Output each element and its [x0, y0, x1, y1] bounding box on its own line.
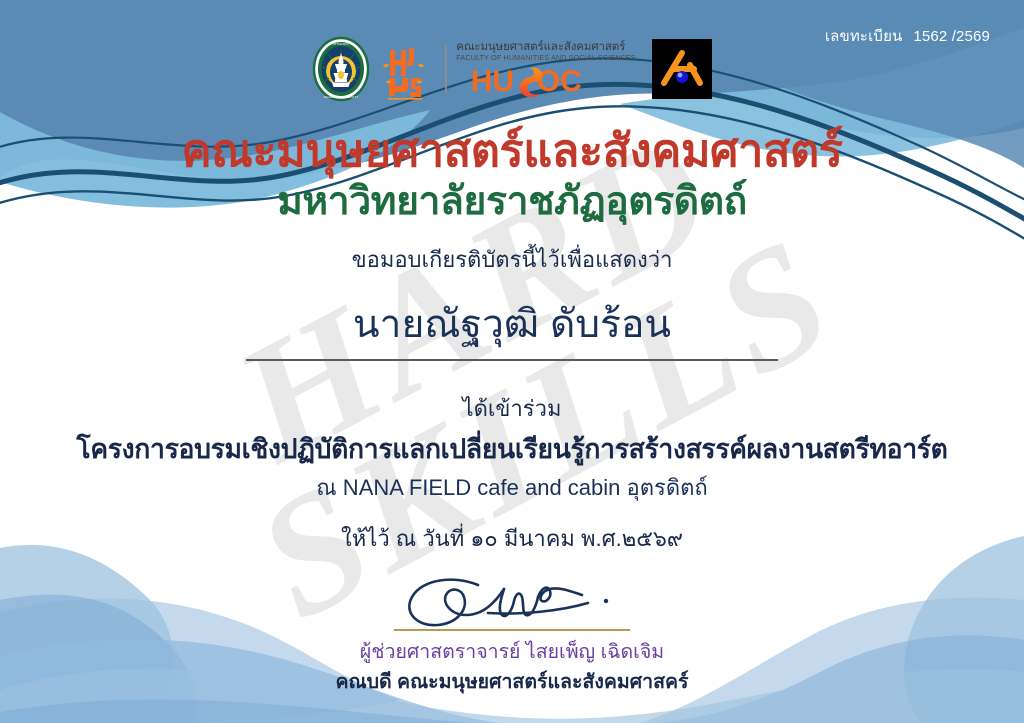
registration-label: เลขทะเบียน — [825, 28, 903, 45]
signature-rule — [394, 629, 630, 631]
university-title: มหาวิทยาลัยราชภัฏอุตรดิตถ์ — [277, 179, 747, 225]
registration-number: เลขทะเบียน1562 /2569 — [825, 24, 990, 48]
logo-row: UTTARADIT RAJABHAT UNIVERSITY — [312, 36, 712, 102]
signer-name: ผู้ช่วยศาสตราจารย์ ไสยเพ็ญ เฉิดเจิม — [360, 640, 664, 665]
signer-role: คณบดี คณะมนุษยศาสตร์และสังคมศาสคร์ — [335, 670, 688, 695]
svg-text:UTTARADIT: UTTARADIT — [333, 42, 350, 46]
project-title: โครงการอบรมเชิงปฏิบัติการแลกเปลี่ยนเรียน… — [76, 433, 947, 466]
issue-date-text: ให้ไว้ ณ วันที่ ๑๐ มีนาคม พ.ศ.๒๕๖๙ — [341, 525, 683, 554]
husoc-logo-block: คณะมนุษยศาสตร์และสังคมศาสตร์ FACULTY OF … — [440, 38, 636, 100]
university-seal-icon: UTTARADIT RAJABHAT UNIVERSITY — [312, 36, 370, 102]
husoc-text-group: คณะมนุษยศาสตร์และสังคมศาสตร์ FACULTY OF … — [456, 41, 636, 97]
svg-text:HU: HU — [471, 65, 514, 97]
venue-text: ณ NANA FIELD cafe and cabin อุตรดิตถ์ — [316, 474, 707, 503]
certificate-content: เลขทะเบียน1562 /2569 — [0, 0, 1024, 723]
husoc-english-label: FACULTY OF HUMANITIES AND SOCIAL SCIENCE… — [456, 54, 636, 62]
svg-text:RAJABHAT UNIVERSITY: RAJABHAT UNIVERSITY — [324, 95, 358, 99]
recipient-name-rule — [246, 359, 778, 360]
handwritten-signature-icon — [392, 571, 632, 633]
onie-black-square-icon — [652, 39, 712, 99]
participation-label: ได้เข้าร่วม — [463, 391, 562, 426]
husoc-thai-label: คณะมนุษยศาสตร์และสังคมศาสตร์ — [456, 41, 636, 53]
thai-monogram-icon — [380, 36, 430, 102]
award-intro-text: ขอมอบเกียรติบัตรนี้ไว้เพื่อแสดงว่า — [352, 246, 673, 275]
faculty-title: คณะมนุษยศาสตร์และสังคมศาสตร์ — [181, 124, 842, 177]
certificate-page: HARD SKILLS เลขทะเบียน1562 /2569 — [0, 0, 1024, 723]
husoc-wordmark-icon: HU OC — [456, 63, 636, 97]
logo-divider — [445, 45, 447, 93]
svg-text:OC: OC — [537, 65, 582, 97]
registration-value: 1562 /2569 — [913, 28, 990, 45]
signature-block: ผู้ช่วยศาสตราจารย์ ไสยเพ็ญ เฉิดเจิม คณบด… — [335, 571, 688, 695]
recipient-name: นายณัฐวุฒิ ดับร้อน — [353, 301, 671, 350]
